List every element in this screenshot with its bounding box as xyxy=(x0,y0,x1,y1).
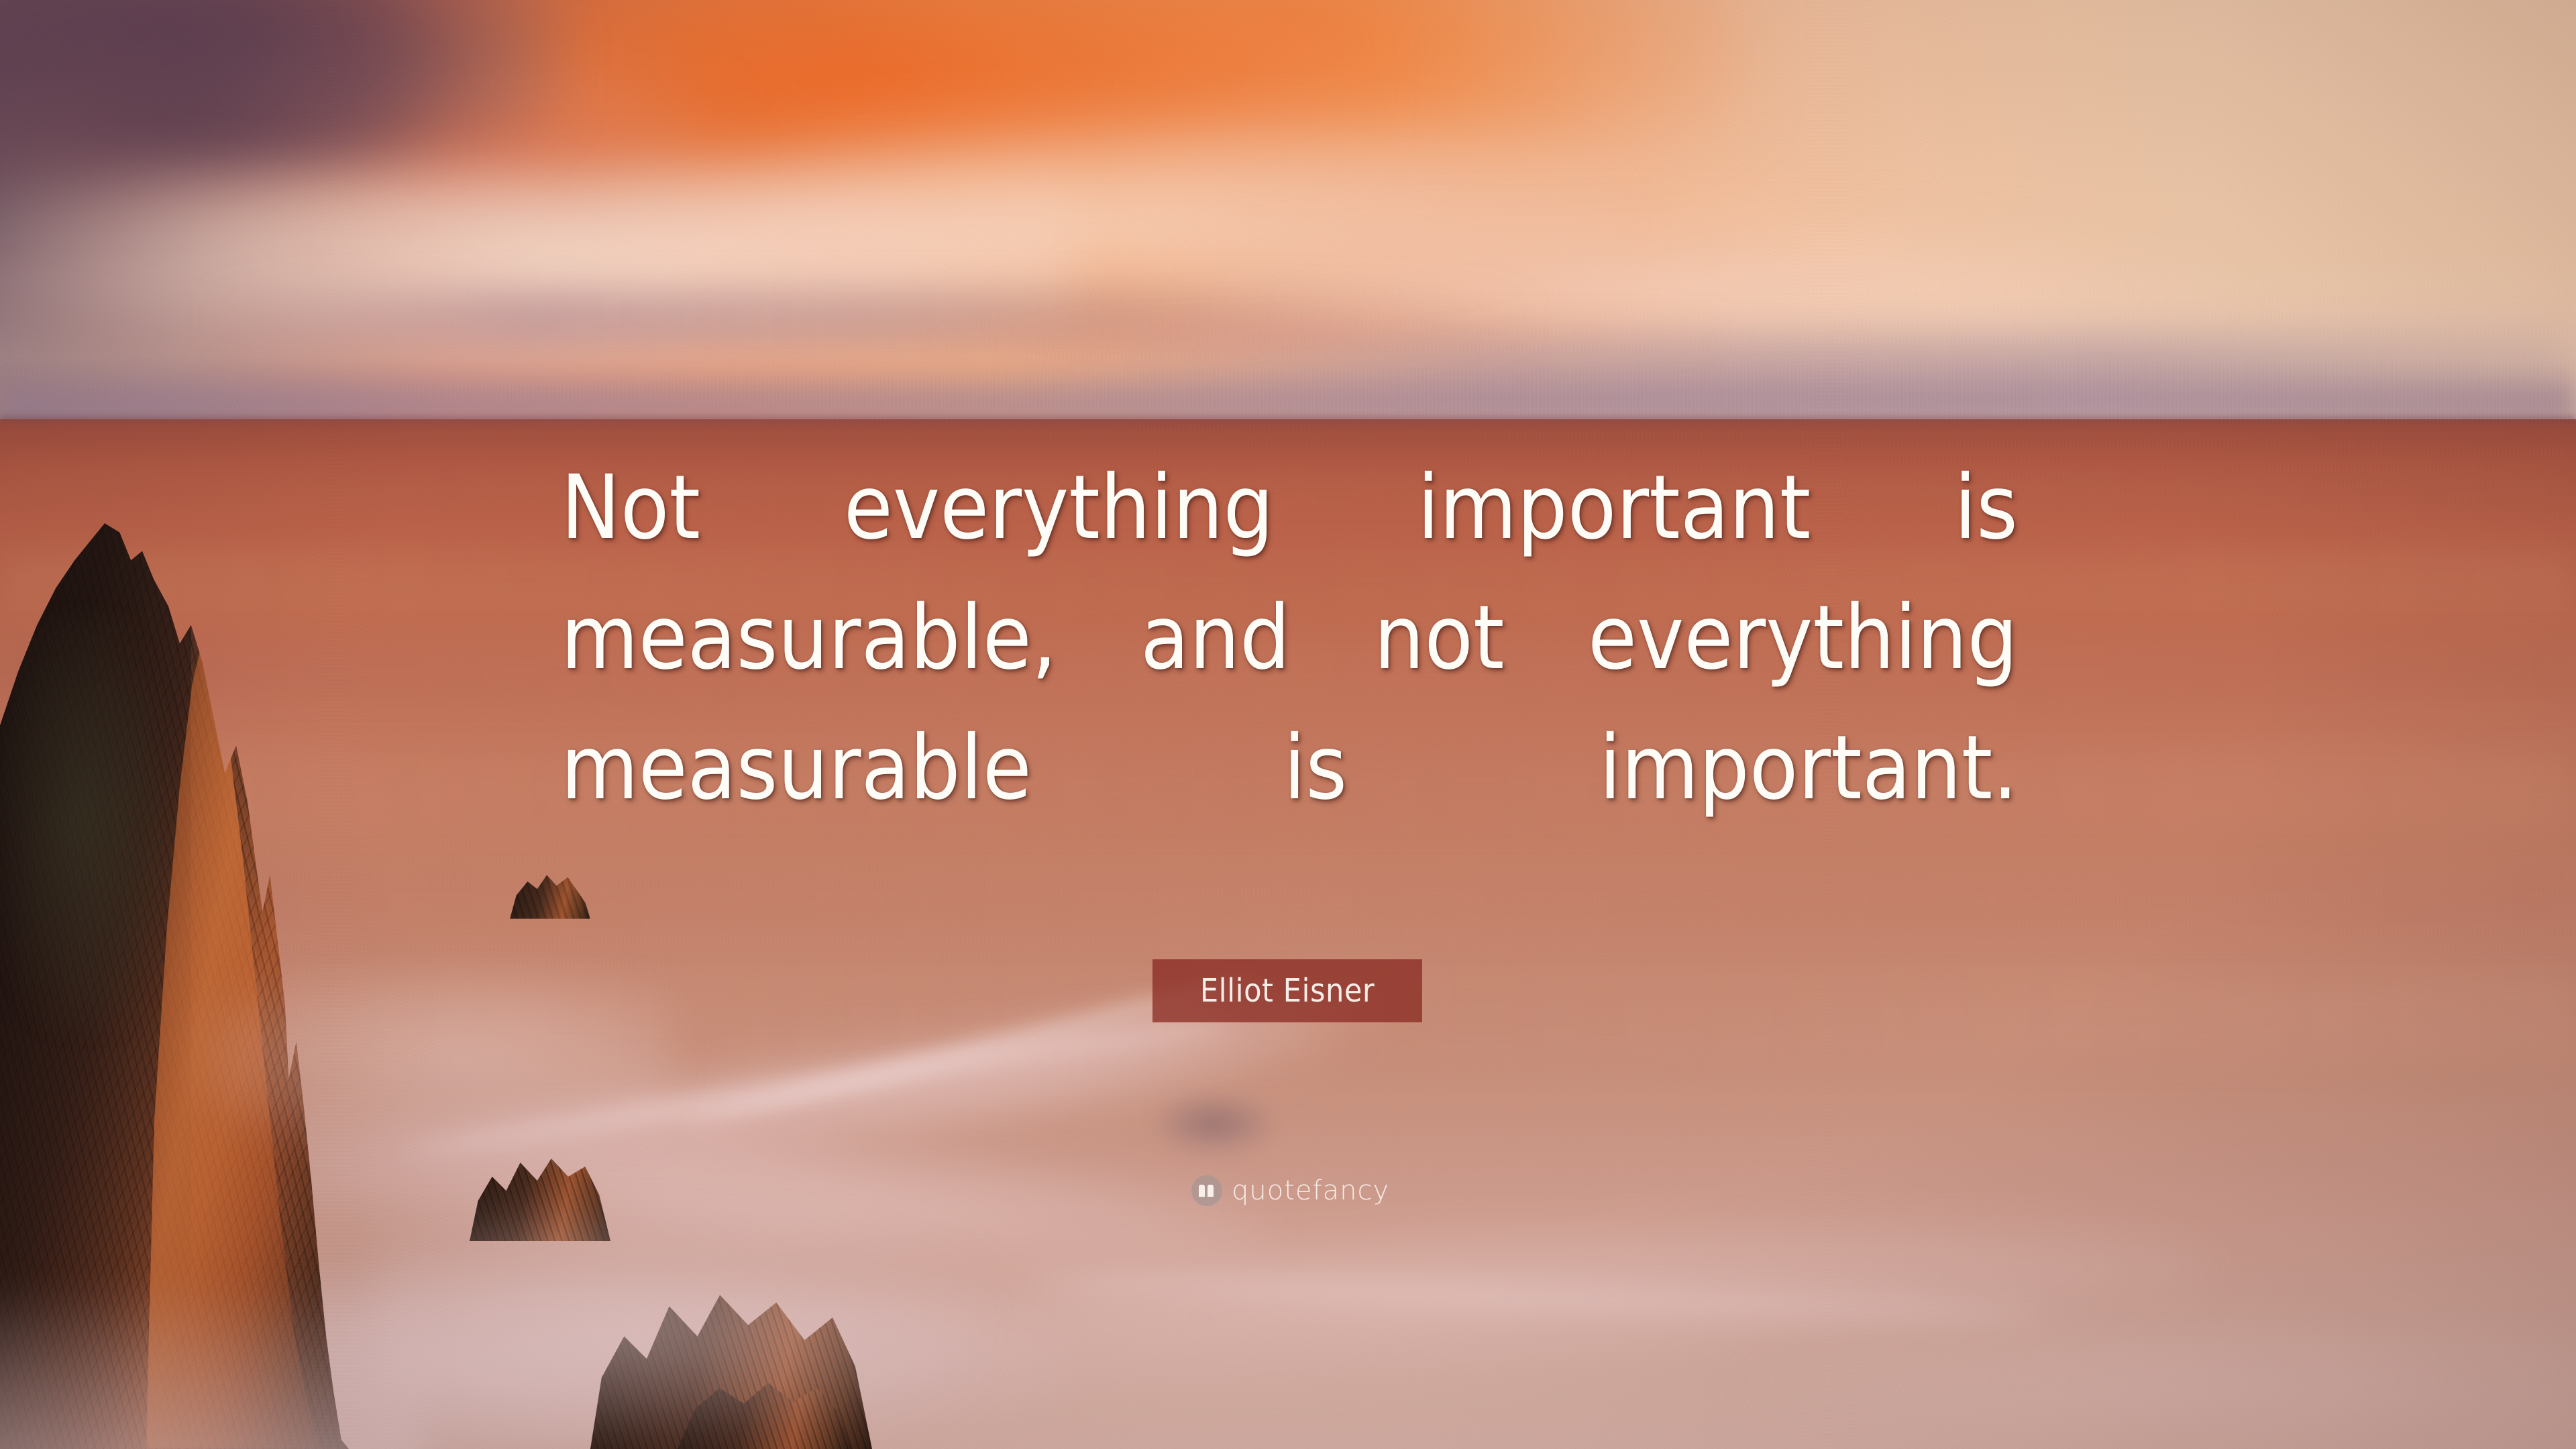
quote-text-block: Not everything important is measurable, … xyxy=(561,443,2018,833)
mist-over-foreground-rocks xyxy=(376,1214,979,1436)
quote-word: everything xyxy=(844,443,1274,573)
quotation-mark-icon xyxy=(1191,1175,1222,1206)
author-name: Elliot Eisner xyxy=(1200,972,1375,1010)
quote-word: is xyxy=(1283,703,1347,833)
submerged-rock-smudge xyxy=(1154,1093,1275,1154)
quotefancy-watermark[interactable]: quotefancy xyxy=(1191,1175,1389,1206)
quote-word: Not xyxy=(561,443,700,573)
horizon-line xyxy=(0,416,2576,427)
quote-word: everything xyxy=(1588,573,2018,703)
quote-word: is xyxy=(1954,443,2018,573)
sea-band-5 xyxy=(0,865,2576,932)
quote-word: important xyxy=(1417,443,1811,573)
quote-word: important. xyxy=(1599,703,2018,833)
rock-base-mist xyxy=(0,1283,424,1449)
author-badge: Elliot Eisner xyxy=(1152,959,1422,1022)
rock-moss-patch xyxy=(0,616,168,1032)
quote-poster: Not everything important is measurable, … xyxy=(0,0,2576,1449)
quote-line-1: Not everything important is xyxy=(561,443,2018,573)
quote-word: measurable xyxy=(561,703,1032,833)
quote-line-3: measurable is important. xyxy=(561,703,2018,833)
quote-line-2: measurable, and not everything xyxy=(561,573,2018,703)
quote-word: measurable, xyxy=(561,573,1057,703)
quote-glyph xyxy=(1199,1185,1215,1197)
quote-word: not xyxy=(1374,573,1504,703)
watermark-label: quotefancy xyxy=(1232,1177,1389,1204)
quote-word: and xyxy=(1140,573,1290,703)
mist-mid-left xyxy=(201,973,671,1147)
